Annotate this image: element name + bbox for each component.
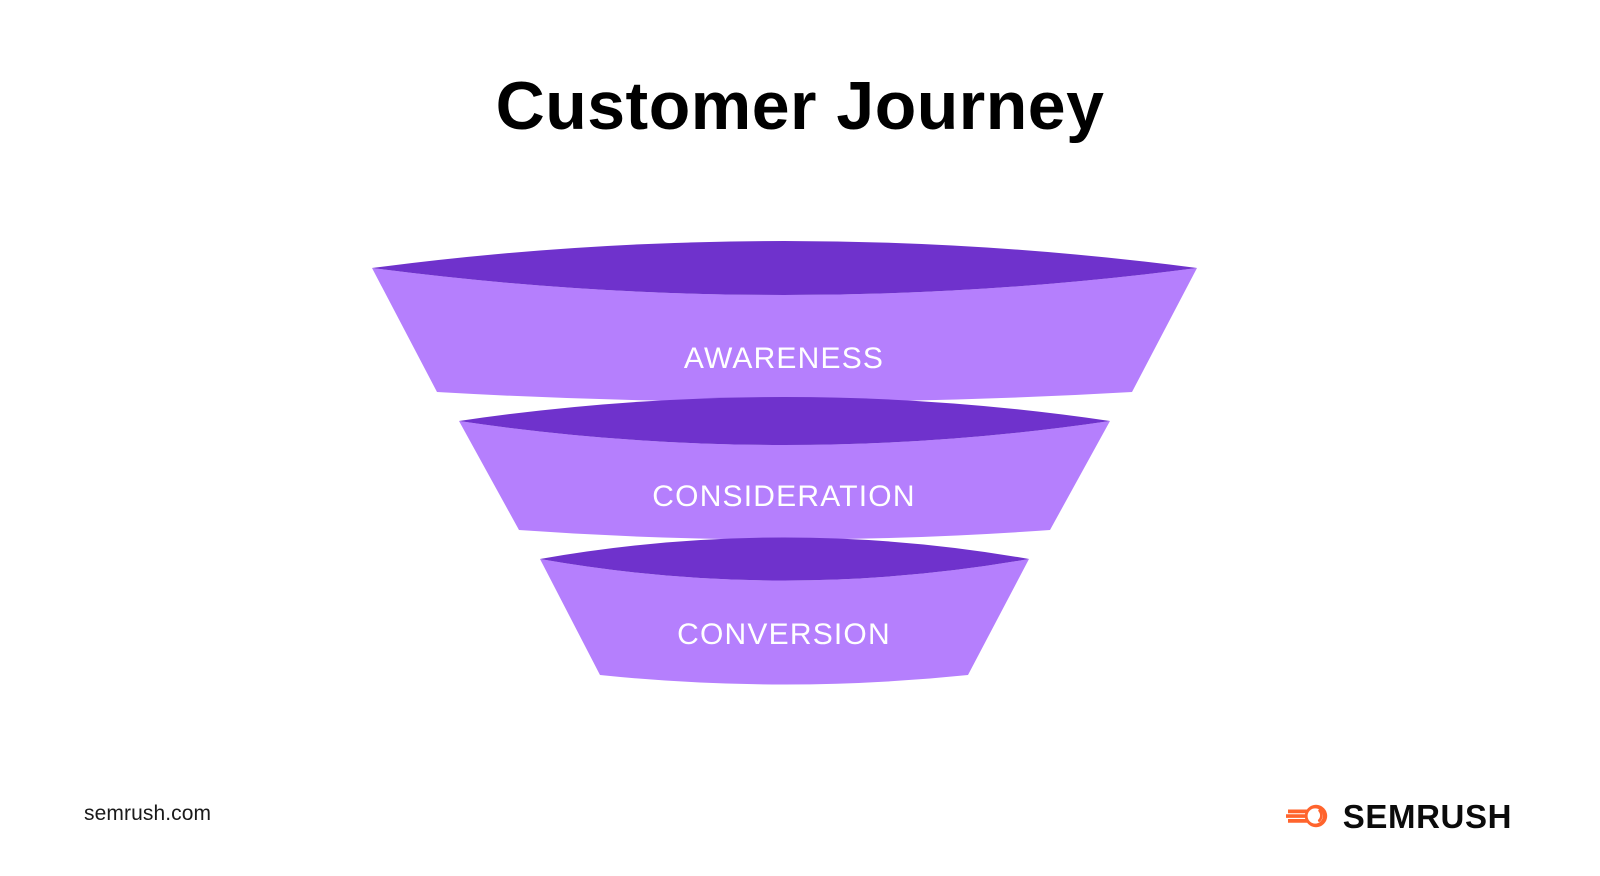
funnel-stage-consideration-label: CONSIDERATION	[652, 480, 915, 513]
semrush-logo: SEMRUSH	[1286, 794, 1512, 838]
funnel-stage-awareness[interactable]: AWARENESS	[372, 241, 1197, 402]
funnel-stage-conversion-label: CONVERSION	[677, 618, 891, 651]
semrush-comet-icon	[1286, 800, 1330, 832]
slide-canvas: Customer Journey AWARENESS CONSIDERATION	[0, 0, 1600, 876]
funnel-svg: AWARENESS CONSIDERATION CONVERSION	[0, 0, 1600, 876]
semrush-wordmark: SEMRUSH	[1343, 800, 1512, 833]
funnel-stage-conversion[interactable]: CONVERSION	[540, 538, 1029, 685]
funnel-stage-consideration[interactable]: CONSIDERATION	[459, 397, 1110, 540]
funnel-chart: AWARENESS CONSIDERATION CONVERSION	[0, 0, 1600, 876]
footer-website-url: semrush.com	[84, 802, 211, 826]
funnel-stage-awareness-label: AWARENESS	[684, 342, 884, 375]
